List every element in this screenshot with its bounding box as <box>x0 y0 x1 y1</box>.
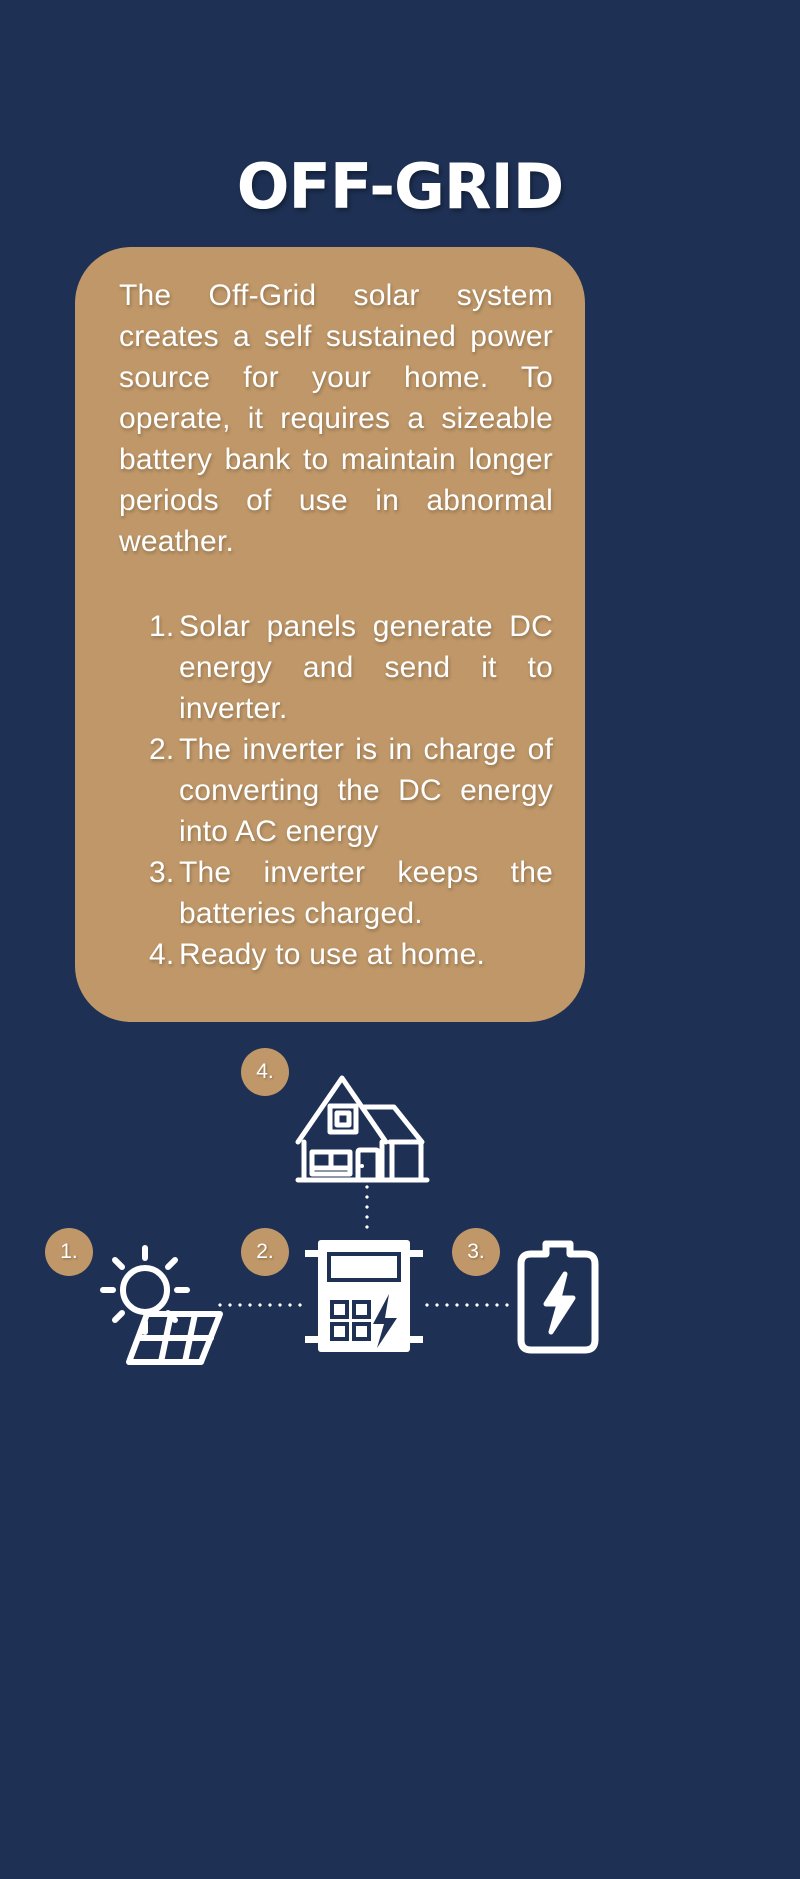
step-badge-4: 4. <box>241 1048 289 1096</box>
list-item: The inverter keeps the batteries charged… <box>149 852 553 934</box>
info-card: The Off-Grid solar system creates a self… <box>75 247 585 1022</box>
list-item: Ready to use at home. <box>149 934 553 975</box>
step-badge-2: 2. <box>241 1228 289 1276</box>
inverter-icon <box>305 1232 423 1365</box>
step-badge-1: 1. <box>45 1228 93 1276</box>
battery-icon <box>513 1232 603 1365</box>
connector-inverter-to-battery <box>422 1303 512 1307</box>
solar-panel-icon <box>125 1308 225 1375</box>
page-title: OFF-GRID <box>0 150 800 223</box>
steps-list: Solar panels generate DC energy and send… <box>119 606 553 975</box>
list-item: Solar panels generate DC energy and send… <box>149 606 553 729</box>
connector-panel-to-inverter <box>215 1303 303 1307</box>
card-paragraph: The Off-Grid solar system creates a self… <box>119 275 553 562</box>
house-icon <box>290 1062 440 1192</box>
step-badge-3: 3. <box>452 1228 500 1276</box>
list-item: The inverter is in charge of converting … <box>149 729 553 852</box>
